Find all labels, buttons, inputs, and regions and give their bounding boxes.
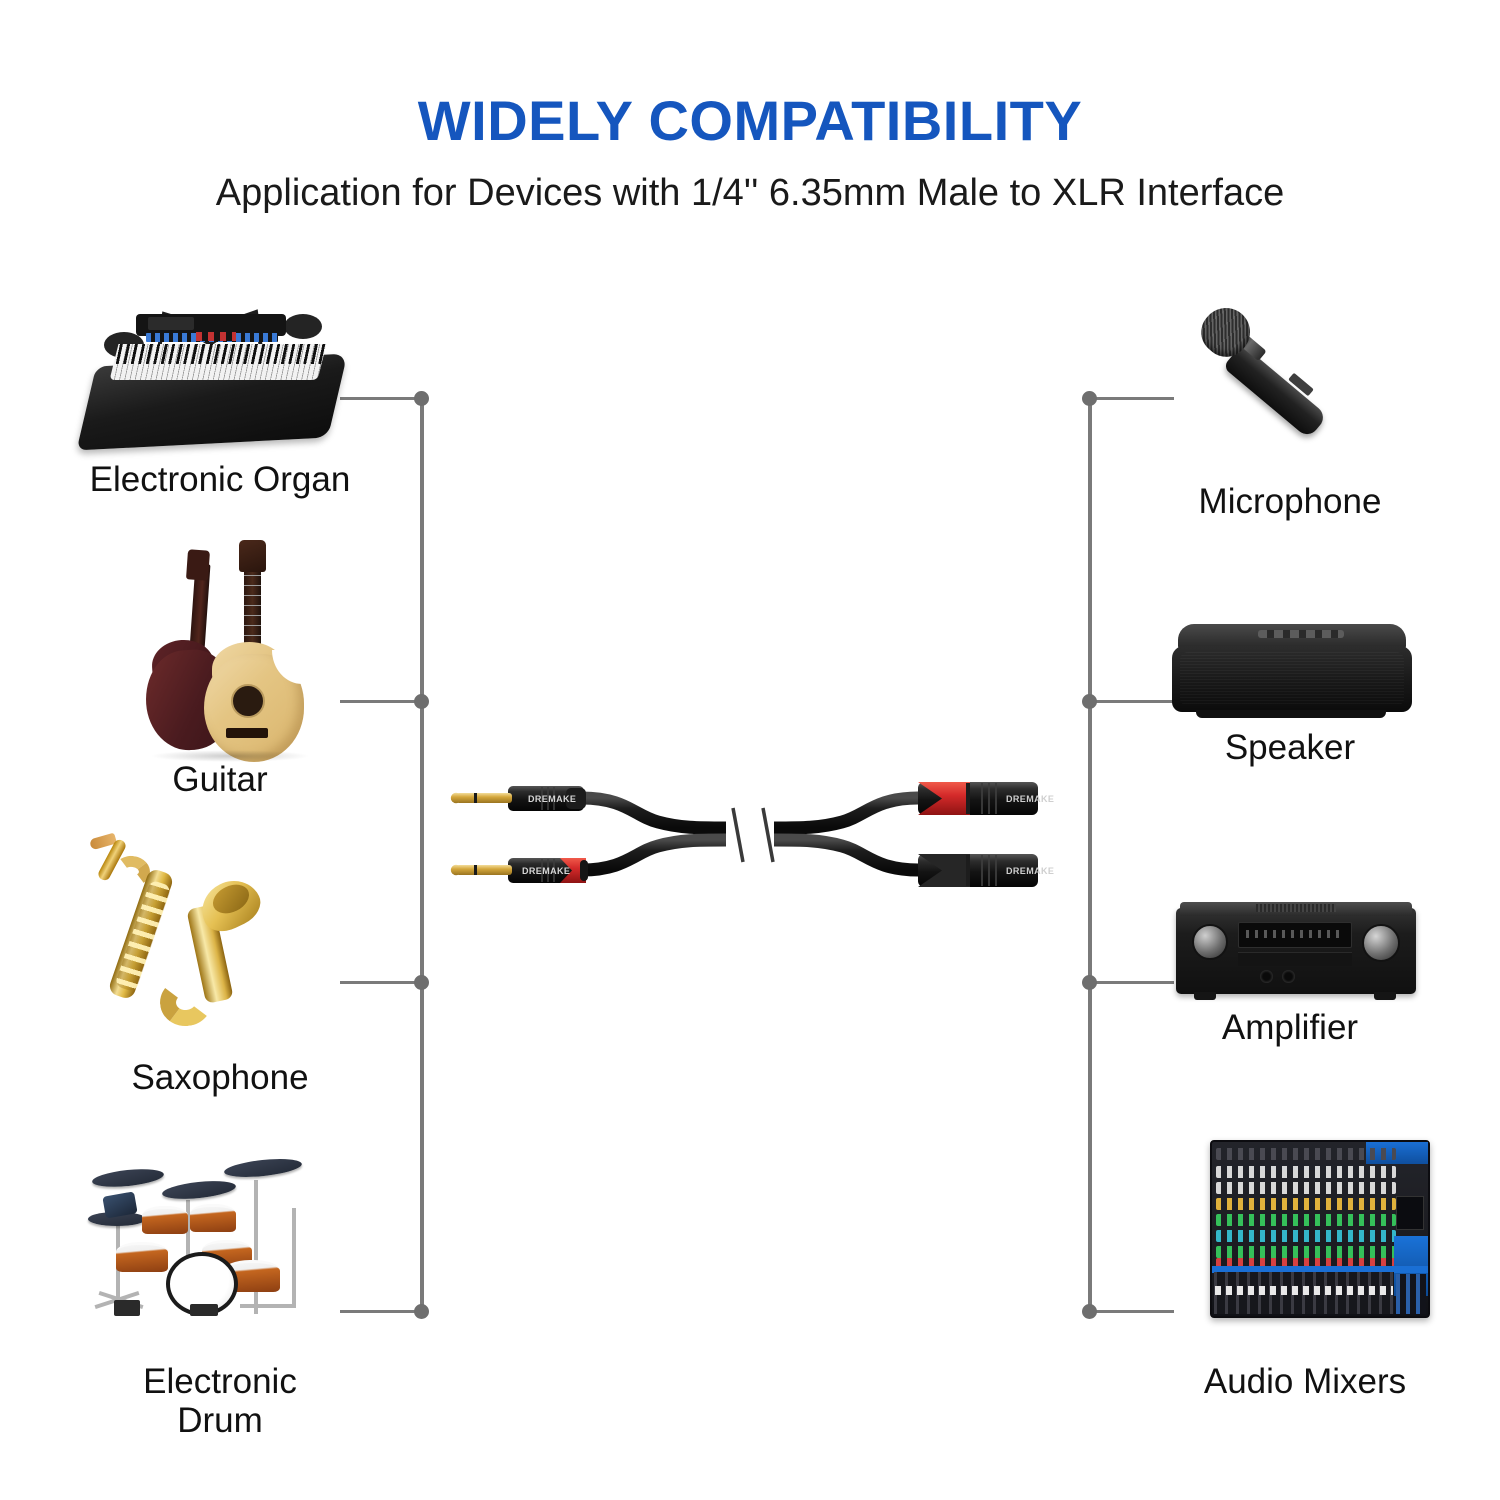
speaker-base bbox=[1196, 710, 1386, 718]
guitar-back-headstock bbox=[186, 549, 210, 580]
drum-crash-cymbal-1 bbox=[91, 1166, 164, 1189]
amp-lower-panel bbox=[1238, 952, 1352, 966]
mixer-fader-caps bbox=[1215, 1286, 1393, 1295]
speaker-control-buttons bbox=[1258, 630, 1344, 638]
drum-crash-cymbal-2 bbox=[161, 1178, 236, 1202]
microphone-icon bbox=[1196, 300, 1376, 460]
left-bracket-stub-3 bbox=[340, 981, 422, 984]
xlr-brand-top: DREMAKE bbox=[1006, 794, 1054, 804]
guitar-soundhole bbox=[231, 684, 265, 718]
amp-input-knob bbox=[1192, 924, 1228, 960]
page-title: WIDELY COMPATIBILITY bbox=[0, 88, 1500, 153]
xlr-brand-bottom: DREMAKE bbox=[1006, 866, 1054, 876]
left-bracket-dot-2 bbox=[414, 694, 429, 709]
mixer-master-faders bbox=[1396, 1274, 1426, 1314]
quarter-inch-plug-top: DREMAKE bbox=[451, 786, 586, 811]
cable-left-wires bbox=[582, 798, 726, 870]
amp-display-text bbox=[1246, 930, 1344, 938]
mixer-knob-row-4 bbox=[1216, 1198, 1396, 1210]
right-bracket-spine bbox=[1088, 398, 1092, 1313]
organ-keybed bbox=[110, 344, 327, 380]
electronic-drum-icon bbox=[78, 1148, 328, 1328]
guitar-front-headstock bbox=[239, 540, 266, 572]
label-saxophone: Saxophone bbox=[20, 1058, 420, 1097]
mixer-knob-row-5 bbox=[1216, 1214, 1396, 1226]
xlr-connector-top: DREMAKE bbox=[918, 782, 1054, 815]
left-bracket-stub-4 bbox=[340, 1310, 422, 1313]
right-bracket-stub-4 bbox=[1092, 1310, 1174, 1313]
organ-speaker-right bbox=[284, 314, 322, 339]
left-bracket-stub-1 bbox=[340, 397, 422, 400]
label-microphone: Microphone bbox=[1110, 482, 1470, 521]
label-electronic-organ: Electronic Organ bbox=[20, 460, 420, 499]
xlr-connector-bottom: DREMAKE bbox=[918, 854, 1054, 887]
mixer-knob-row-2 bbox=[1216, 1166, 1396, 1178]
amplifier-icon bbox=[1176, 900, 1416, 1005]
organ-display bbox=[148, 317, 194, 330]
mixer-knob-row-1 bbox=[1216, 1148, 1396, 1160]
label-amplifier: Amplifier bbox=[1110, 1008, 1470, 1047]
right-bracket-stub-1 bbox=[1092, 397, 1174, 400]
left-bracket-dot-1 bbox=[414, 391, 429, 406]
amp-foot-left bbox=[1194, 992, 1216, 1000]
cable-right-wires bbox=[774, 798, 918, 870]
cable-assembly: DREMAKE DREMAKE DREMAKE bbox=[430, 770, 1070, 930]
organ-red-buttons bbox=[196, 332, 236, 341]
plug-brand-bottom: DREMAKE bbox=[522, 866, 570, 876]
amp-jack-1 bbox=[1260, 970, 1273, 983]
speaker-icon bbox=[1172, 624, 1412, 734]
guitar-icon bbox=[130, 532, 335, 762]
page-subtitle: Application for Devices with 1/4'' 6.35m… bbox=[0, 172, 1500, 215]
drum-stand-3 bbox=[254, 1180, 258, 1314]
amp-front-jacks bbox=[1260, 970, 1296, 984]
plug-brand-top: DREMAKE bbox=[528, 794, 576, 804]
mixer-knob-row-3 bbox=[1216, 1182, 1396, 1194]
electronic-organ-icon bbox=[88, 308, 338, 458]
drum-rack-tom-1 bbox=[142, 1206, 188, 1234]
infographic-page: WIDELY COMPATIBILITY Application for Dev… bbox=[0, 0, 1500, 1500]
cable-break-symbol bbox=[726, 808, 774, 862]
audio-mixer-icon bbox=[1210, 1140, 1430, 1320]
mixer-knob-row-7 bbox=[1216, 1246, 1396, 1258]
right-bracket-dot-4 bbox=[1082, 1304, 1097, 1319]
drum-stand-4 bbox=[292, 1208, 296, 1308]
amp-foot-right bbox=[1374, 992, 1396, 1000]
amp-vent-grille bbox=[1256, 904, 1336, 912]
drum-rack-bar bbox=[240, 1304, 294, 1308]
right-bracket-dot-1 bbox=[1082, 391, 1097, 406]
drum-kick-pedal bbox=[190, 1304, 218, 1316]
guitar-bridge bbox=[226, 728, 268, 738]
label-speaker: Speaker bbox=[1120, 728, 1460, 767]
right-bracket-dot-3 bbox=[1082, 975, 1097, 990]
left-bracket-dot-4 bbox=[414, 1304, 429, 1319]
label-guitar: Guitar bbox=[60, 760, 380, 799]
quarter-inch-plug-bottom: DREMAKE bbox=[451, 858, 588, 883]
saxophone-icon bbox=[80, 828, 295, 1038]
drum-snare bbox=[116, 1242, 168, 1272]
drum-ride-cymbal bbox=[223, 1156, 302, 1180]
label-audio-mixers: Audio Mixers bbox=[1120, 1362, 1490, 1401]
label-electronic-drum: Electronic Drum bbox=[20, 1362, 420, 1440]
right-bracket-dot-2 bbox=[1082, 694, 1097, 709]
left-bracket-spine bbox=[420, 398, 424, 1313]
drum-rack-tom-2 bbox=[190, 1204, 236, 1232]
left-bracket-stub-2 bbox=[340, 700, 422, 703]
amp-volume-knob bbox=[1362, 924, 1400, 962]
amp-jack-2 bbox=[1282, 970, 1295, 983]
drum-hihat-pedal bbox=[114, 1300, 140, 1316]
right-bracket-stub-2 bbox=[1092, 700, 1174, 703]
right-bracket-stub-3 bbox=[1092, 981, 1174, 984]
mixer-knob-row-6 bbox=[1216, 1230, 1396, 1242]
speaker-grille bbox=[1180, 652, 1404, 706]
left-bracket-dot-3 bbox=[414, 975, 429, 990]
mixer-level-meter bbox=[1396, 1196, 1424, 1230]
